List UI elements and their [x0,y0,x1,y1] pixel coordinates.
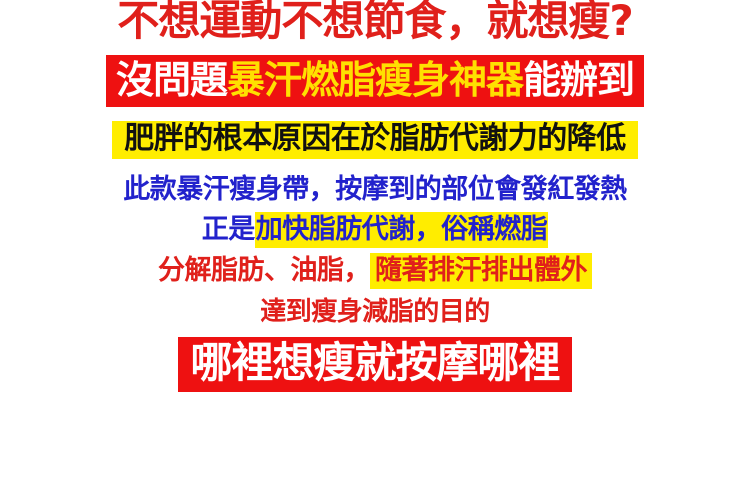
red-banner-top-row: 沒問題暴汗燃脂瘦身神器能辦到 [0,42,750,107]
headline-row: 不想運動不想節食，就想瘦? [0,0,750,42]
red-banner-bottom-row: 哪裡想瘦就按摩哪裡 [0,325,750,392]
red-banner-bottom-text: 哪裡想瘦就按摩哪裡 [178,337,571,392]
banner-top-segment-3: 能辦到 [523,58,634,102]
red-line-small-text: 達到瘦身減脂的目的 [260,297,490,327]
banner-top-segment-2-product: 暴汗燃脂瘦身神器 [227,58,523,102]
red-line-small-row: 達到瘦身減脂的目的 [0,299,750,325]
yellow-band-text: 肥胖的根本原因在於脂肪代謝力的降低 [112,121,638,159]
yellow-band-row: 肥胖的根本原因在於脂肪代謝力的降低 [0,107,750,159]
red-line-row: 分解脂肪、油脂，隨著排汗排出體外 [0,257,750,284]
blue-line-2-segment-1: 正是 [202,214,255,245]
blue-line-2-row: 正是加快脂肪代謝，俗稱燃脂 [0,216,750,243]
red-banner-top: 沒問題暴汗燃脂瘦身神器能辦到 [106,55,644,107]
blue-line-2-segment-2-highlight: 加快脂肪代謝，俗稱燃脂 [255,212,549,248]
promo-poster: 不想運動不想節食，就想瘦? 沒問題暴汗燃脂瘦身神器能辦到 肥胖的根本原因在於脂肪… [0,0,750,479]
headline-text: 不想運動不想節食，就想瘦? [117,0,632,45]
red-line-segment-1: 分解脂肪、油脂， [158,255,370,286]
blue-line-1-text: 此款暴汗瘦身帶，按摩到的部位會發紅發熱 [123,174,627,205]
banner-top-segment-1: 沒問題 [116,58,227,102]
blue-line-1-row: 此款暴汗瘦身帶，按摩到的部位會發紅發熱 [0,176,750,203]
red-line-segment-2-highlight: 隨著排汗排出體外 [370,253,592,289]
